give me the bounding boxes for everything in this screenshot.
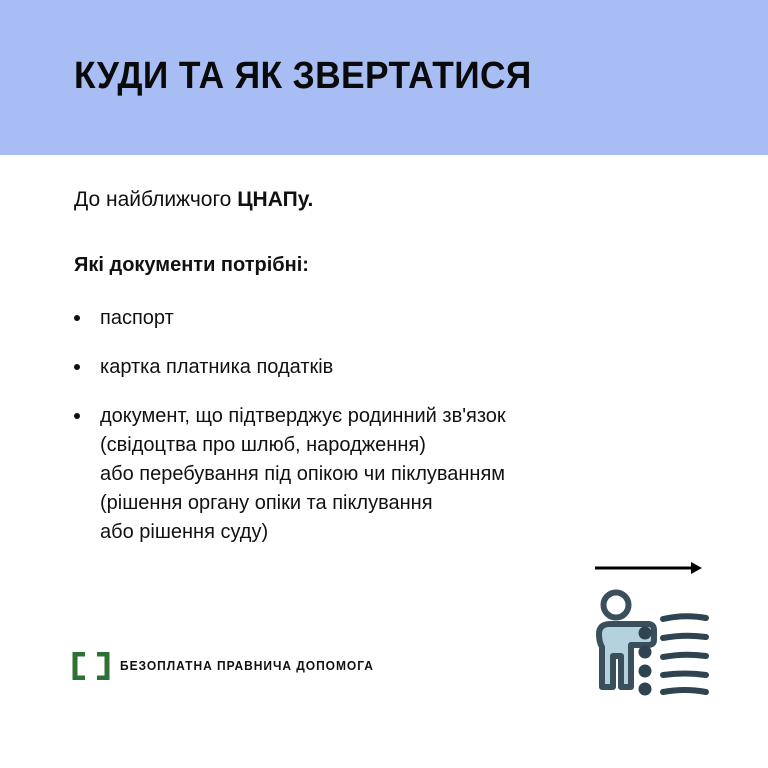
checklist-dots: [639, 627, 652, 696]
brand-name: БЕЗОПЛАТНА ПРАВНИЧА ДОПОМОГА: [120, 659, 374, 673]
brackets-icon: [72, 652, 110, 680]
page-title: КУДИ ТА ЯК ЗВЕРТАТИСЯ: [74, 54, 532, 98]
list-item-line: (свідоцтва про шлюб, народження): [100, 431, 714, 460]
bullet-icon: [74, 413, 80, 419]
bullet-icon: [74, 364, 80, 370]
header-band: КУДИ ТА ЯК ЗВЕРТАТИСЯ: [0, 0, 768, 155]
list-item-line: або рішення суду): [100, 518, 714, 547]
lead-emphasis: ЦНАПу.: [237, 188, 313, 211]
list-item-line: (рішення органу опіки та піклування: [100, 489, 714, 518]
lead-prefix: До найближчого: [74, 188, 237, 211]
arrow-right-icon: [595, 562, 702, 574]
content-area: До найближчого ЦНАПу. Які документи потр…: [74, 186, 714, 547]
list-item-line: або перебування під опікою чи піклування…: [100, 460, 714, 489]
documents-subheading: Які документи потрібні:: [74, 252, 714, 278]
checklist-lines: [663, 616, 706, 692]
slide-root: КУДИ ТА ЯК ЗВЕРТАТИСЯ До найближчого ЦНА…: [0, 0, 768, 768]
documents-list: паспорт картка платника податків докумен…: [74, 304, 714, 547]
list-item-line: документ, що підтверджує родинний зв'язо…: [100, 402, 714, 431]
bullet-icon: [74, 315, 80, 321]
list-item-line: картка платника податків: [100, 353, 714, 382]
list-item: паспорт: [74, 304, 714, 333]
list-item: картка платника податків: [74, 353, 714, 382]
list-item: документ, що підтверджує родинний зв'язо…: [74, 402, 714, 547]
brand-logo: БЕЗОПЛАТНА ПРАВНИЧА ДОПОМОГА: [72, 652, 384, 680]
list-item-line: паспорт: [100, 304, 714, 333]
illustration: [585, 552, 715, 697]
lead-paragraph: До найближчого ЦНАПу.: [74, 186, 714, 214]
